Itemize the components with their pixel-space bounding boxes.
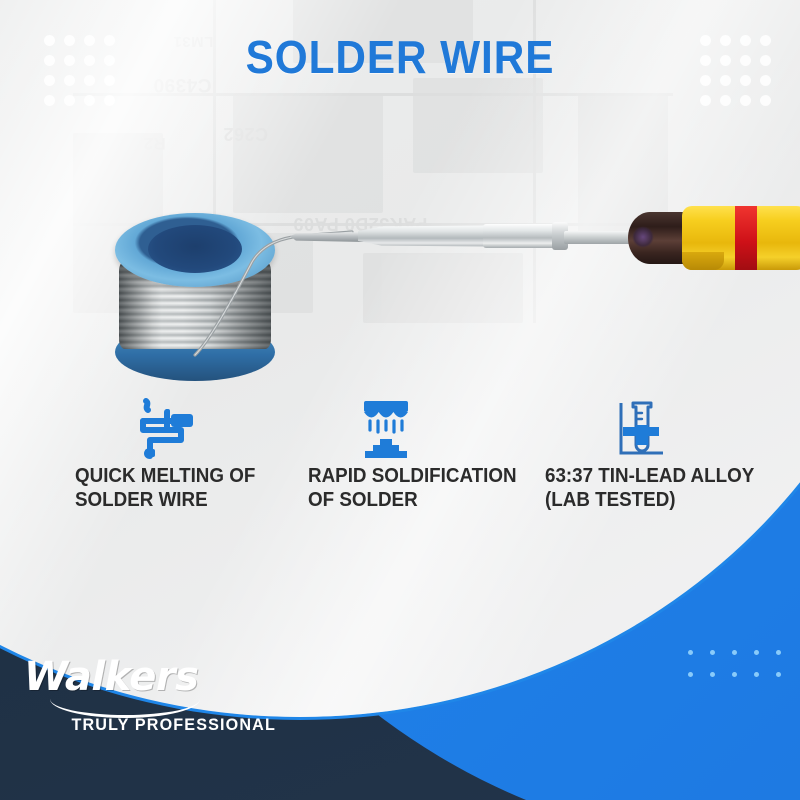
feature-item-alloy-ratio: 63:37 TIN-LEAD ALLOY (LAB TESTED) bbox=[545, 392, 785, 512]
feature-caption: QUICK MELTING OF SOLDER WIRE bbox=[75, 464, 301, 512]
iron-rod bbox=[564, 231, 638, 244]
advertisement-banner: C4390 R2 C262 PAK32D0 PA09 U2 LM203 1080… bbox=[0, 0, 800, 800]
logo-wordmark: Walkers bbox=[24, 655, 304, 699]
iron-tip bbox=[290, 232, 364, 242]
feature-item-quick-melting: QUICK MELTING OF SOLDER WIRE bbox=[75, 392, 315, 512]
cooling-solidification-icon bbox=[308, 392, 548, 464]
test-tube-lab-icon bbox=[545, 392, 785, 464]
feature-item-rapid-solidification: RAPID SOLDIFICATION OF SOLDER bbox=[308, 392, 548, 512]
iron-red-band bbox=[735, 206, 757, 270]
melting-wire-icon bbox=[75, 392, 315, 464]
spool-hub-hole bbox=[148, 225, 242, 273]
iron-shaft-front bbox=[358, 225, 488, 247]
iron-shaft-mid bbox=[483, 224, 559, 248]
page-title: SOLDER WIRE bbox=[32, 30, 768, 84]
brand-logo: Walkers TRULY PROFESSIONAL bbox=[24, 655, 304, 735]
solder-wire-spool bbox=[115, 195, 275, 385]
soldering-iron bbox=[290, 200, 800, 290]
feature-caption: RAPID SOLDIFICATION OF SOLDER bbox=[308, 464, 534, 512]
feature-caption: 63:37 TIN-LEAD ALLOY (LAB TESTED) bbox=[545, 464, 771, 512]
iron-handle-lip bbox=[682, 252, 724, 270]
product-photo bbox=[0, 150, 800, 400]
feature-list: QUICK MELTING OF SOLDER WIRE RAPID SOLDI… bbox=[0, 392, 800, 532]
dot-grid-bottom-right bbox=[688, 650, 798, 694]
logo-tagline: TRULY PROFESSIONAL bbox=[24, 715, 290, 735]
iron-ferrule bbox=[628, 212, 690, 264]
